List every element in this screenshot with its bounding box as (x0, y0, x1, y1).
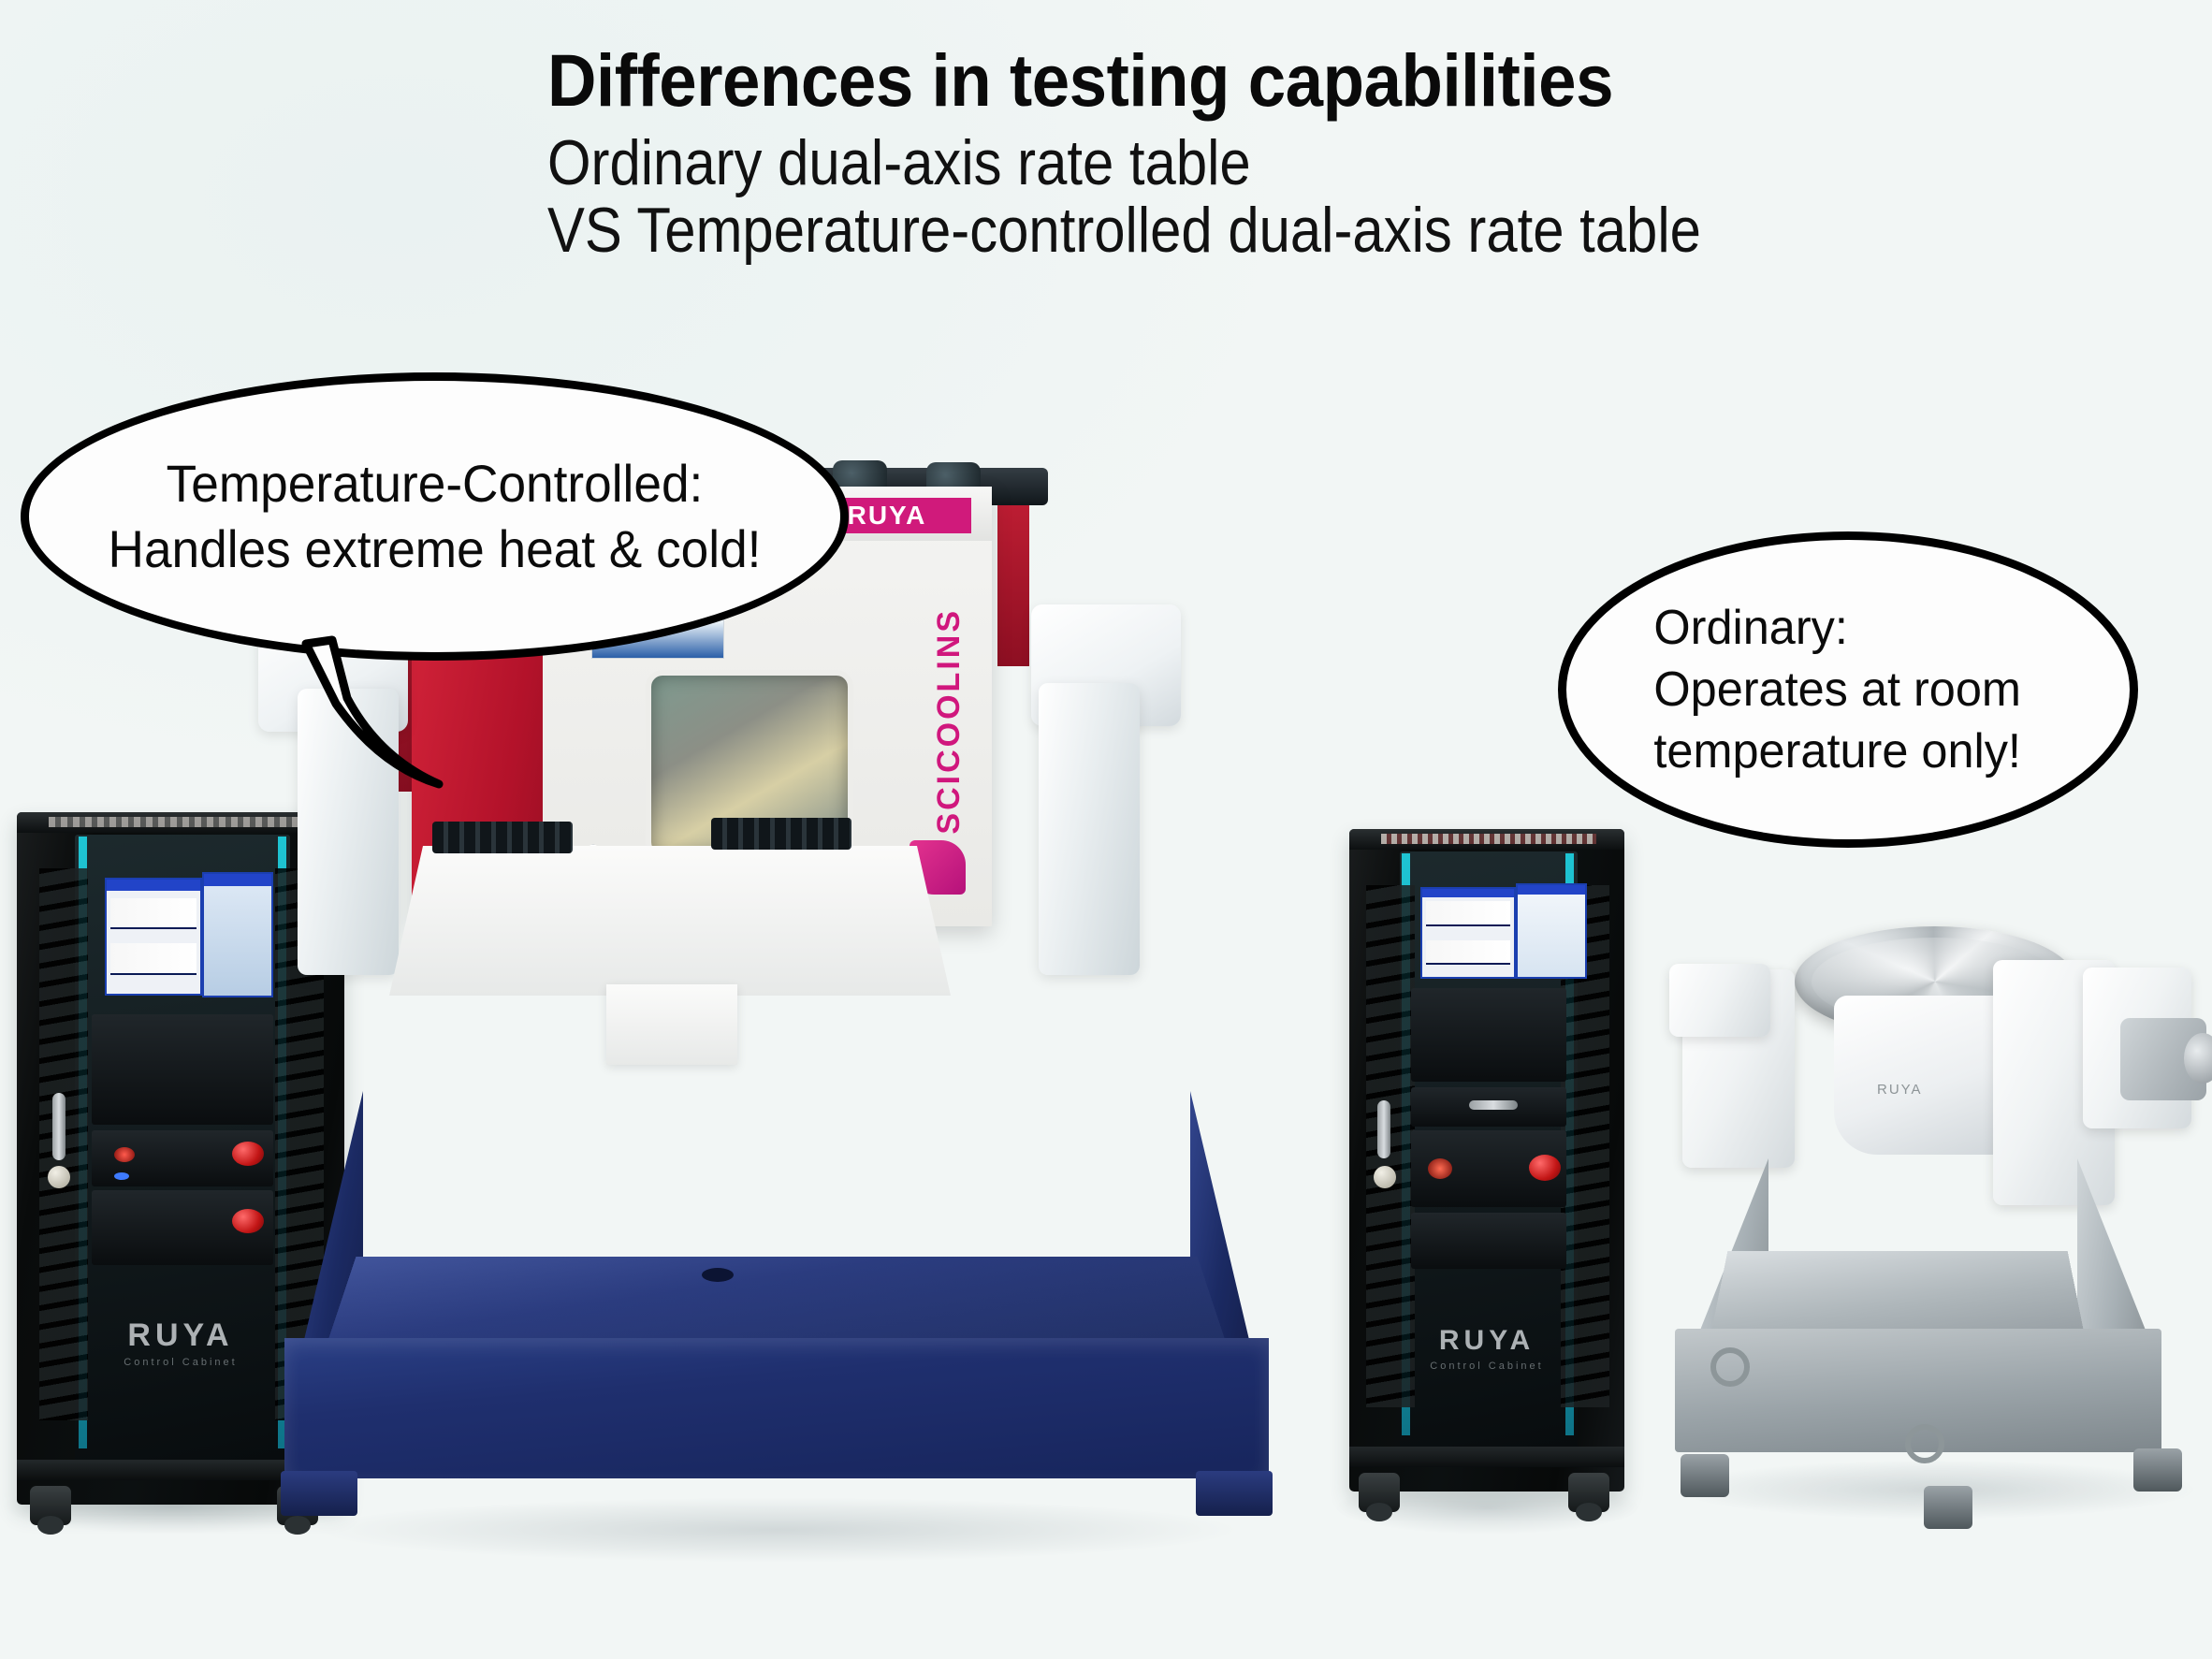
rig-blue-base-beam (284, 1338, 1269, 1478)
cabinet-emergency-stop-button[interactable] (1529, 1155, 1561, 1181)
cabinet-emergency-stop-button-1[interactable] (232, 1142, 264, 1166)
page-title: Differences in testing capabilities (547, 41, 2062, 120)
callout-bubble-ordinary: Ordinary: Operates at room temperature o… (1558, 531, 2138, 848)
rate-table-foot-left (1681, 1454, 1729, 1497)
rate-table-deck (1710, 1251, 2085, 1336)
subtitle-line-2: VS Temperature-controlled dual-axis rate… (547, 195, 1997, 266)
rig-deck-hole (702, 1268, 734, 1282)
monitor-titlebar (204, 874, 271, 886)
cabinet-monitor-right (1516, 883, 1587, 979)
callout-bubble-temperature-controlled: Temperature-Controlled: Handles extreme … (21, 372, 849, 661)
rate-table-lifting-eye-left (1710, 1347, 1750, 1387)
heading-block: Differences in testing capabilities Ordi… (547, 41, 2194, 266)
bubble-text: Temperature-Controlled: Handles extreme … (41, 372, 828, 661)
cabinet-status-led-blue (114, 1172, 129, 1180)
rate-table-foot-front (1924, 1486, 1972, 1529)
rate-table-lifting-eye-front (1905, 1424, 1944, 1463)
monitor-titlebar (1518, 885, 1585, 895)
cabinet-door-lock[interactable] (48, 1166, 70, 1188)
monitor-plot-lower (110, 943, 196, 975)
bubble-line-1: Temperature-Controlled: (167, 451, 704, 517)
cabinet-plinth (1349, 1447, 1624, 1467)
right-control-cabinet: RUYA Control Cabinet (1349, 829, 1624, 1492)
chamber-side-brand-text: SCICOOLINS (931, 608, 968, 835)
cabinet-instrument-module-1 (1411, 988, 1566, 1082)
cabinet-power-led-red (1428, 1158, 1452, 1179)
rig-red-frame-right (997, 479, 1029, 666)
rate-table-axis-motor (2120, 1018, 2206, 1100)
rate-table-body-mark: RUYA (1877, 1082, 1923, 1098)
slide-canvas: Differences in testing capabilities Ordi… (0, 0, 2212, 1659)
cabinet-door-lock[interactable] (1374, 1166, 1396, 1188)
rig-blue-foot-right (1196, 1471, 1273, 1516)
rig-center-apron (389, 846, 951, 996)
monitor-plot-upper (110, 898, 196, 930)
cabinet-tray-handle[interactable] (1469, 1100, 1518, 1110)
rate-table-foot-right (2133, 1448, 2182, 1492)
cabinet-status-led-red (114, 1147, 135, 1162)
monitor-titlebar (1422, 889, 1514, 897)
monitor-titlebar (107, 880, 200, 891)
monitor-plot-lower (1426, 940, 1510, 965)
right-cabinet-caster-right (1568, 1473, 1609, 1512)
cabinet-monitor-left (105, 878, 202, 996)
bubble-line-3: temperature only! (1653, 720, 2021, 782)
rig-blue-frame (271, 1207, 1282, 1516)
cabinet-emergency-stop-button-2[interactable] (232, 1209, 264, 1233)
rig-mount-pad-left (432, 822, 573, 853)
rig-lower-hatch (606, 984, 737, 1065)
cabinet-brand-logo: RUYA (1349, 1325, 1624, 1357)
left-cabinet-caster-left (30, 1486, 71, 1525)
cabinet-door-handle[interactable] (1377, 1100, 1390, 1158)
rig-blue-foot-left (281, 1471, 357, 1516)
rig-mount-pad-right (711, 818, 851, 850)
bubble-line-2: Handles extreme heat & cold! (109, 517, 762, 582)
bubble-line-1: Ordinary: (1653, 597, 1847, 659)
cabinet-blank-panel (1411, 1213, 1566, 1269)
cabinet-brand-sublabel: Control Cabinet (1349, 1361, 1624, 1372)
rig-left-yoke-arm (298, 689, 399, 975)
rig-right-yoke-arm (1039, 683, 1140, 975)
rig-blue-deck (327, 1257, 1226, 1342)
cabinet-door-handle[interactable] (52, 1093, 65, 1160)
cabinet-monitor-left (1420, 887, 1516, 979)
rate-table-left-yoke-cap (1669, 964, 1770, 1037)
ordinary-dual-axis-rate-table: RUYA (1656, 898, 2199, 1497)
cabinet-instrument-module-1 (92, 1014, 273, 1125)
right-cabinet-caster-left (1359, 1473, 1400, 1512)
monitor-plot-upper (1426, 901, 1510, 925)
subtitle-line-1: Ordinary dual-axis rate table (547, 127, 1997, 198)
bubble-text: Ordinary: Operates at room temperature o… (1566, 531, 2129, 848)
cabinet-monitor-right (202, 872, 273, 997)
bubble-line-2: Operates at room (1653, 659, 2020, 720)
